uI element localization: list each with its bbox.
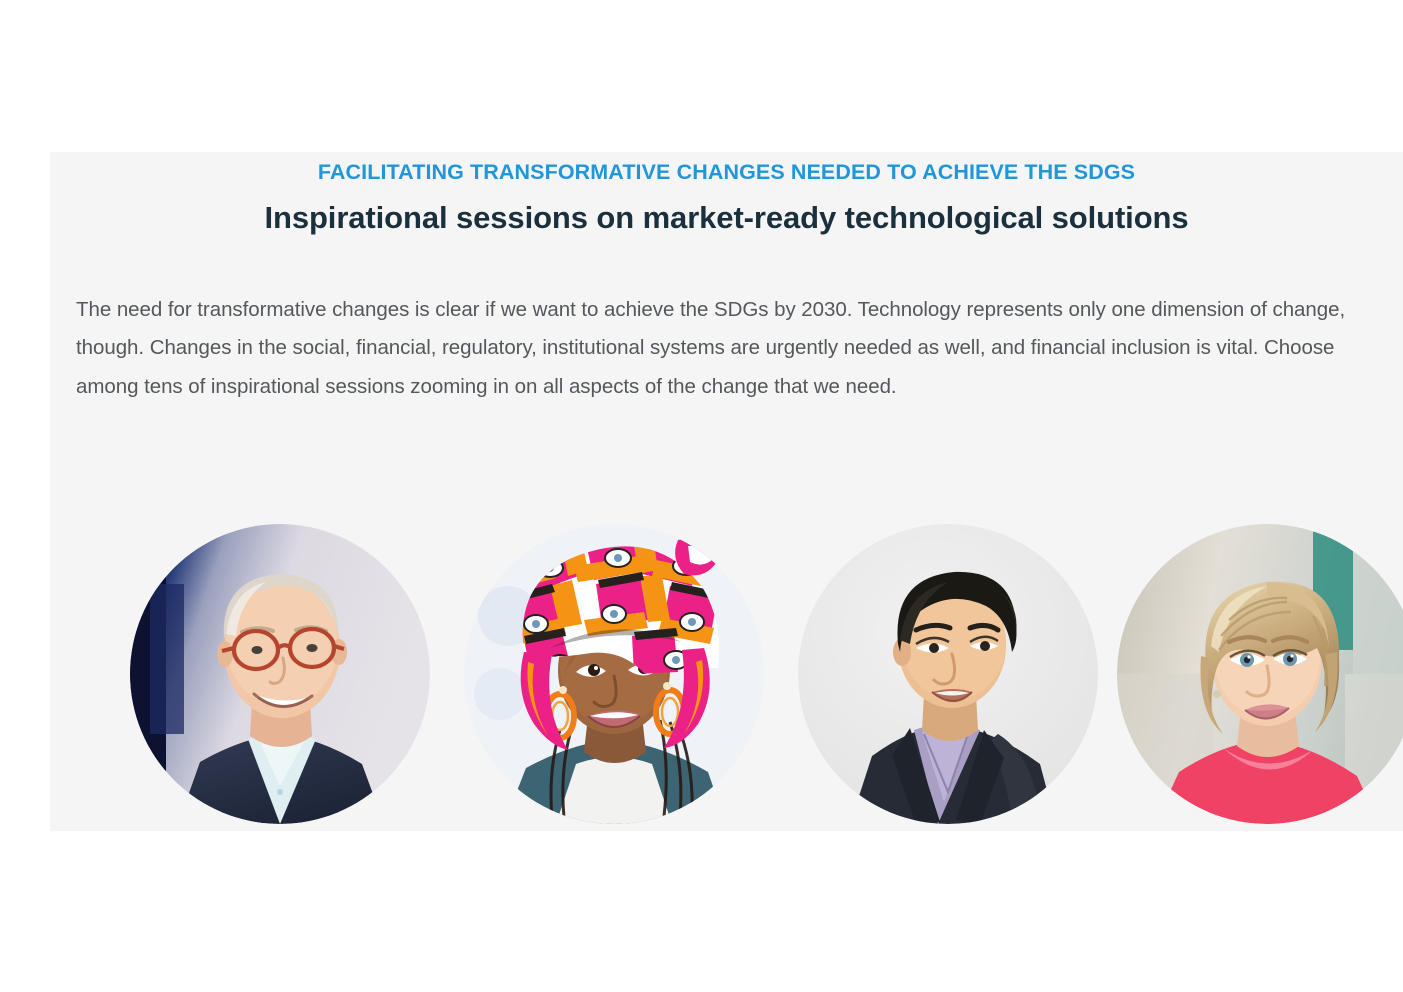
speaker-portrait-2[interactable]: [464, 524, 764, 824]
speaker-portrait-4[interactable]: [1117, 524, 1403, 824]
section-eyebrow: FACILITATING TRANSFORMATIVE CHANGES NEED…: [50, 152, 1403, 187]
portrait-3-image: [798, 524, 1098, 824]
speaker-portrait-1[interactable]: [130, 524, 430, 824]
page-title: Inspirational sessions on market-ready t…: [50, 187, 1403, 239]
inspirational-sessions-panel: FACILITATING TRANSFORMATIVE CHANGES NEED…: [50, 152, 1403, 831]
page-root: FACILITATING TRANSFORMATIVE CHANGES NEED…: [0, 0, 1403, 992]
intro-paragraph: The need for transformative changes is c…: [50, 239, 1403, 407]
portrait-2-image: [464, 524, 764, 824]
speaker-portrait-row: [50, 508, 1403, 808]
portrait-4-image: [1117, 524, 1403, 824]
portrait-1-image: [130, 524, 430, 824]
speaker-portrait-3[interactable]: [798, 524, 1098, 824]
